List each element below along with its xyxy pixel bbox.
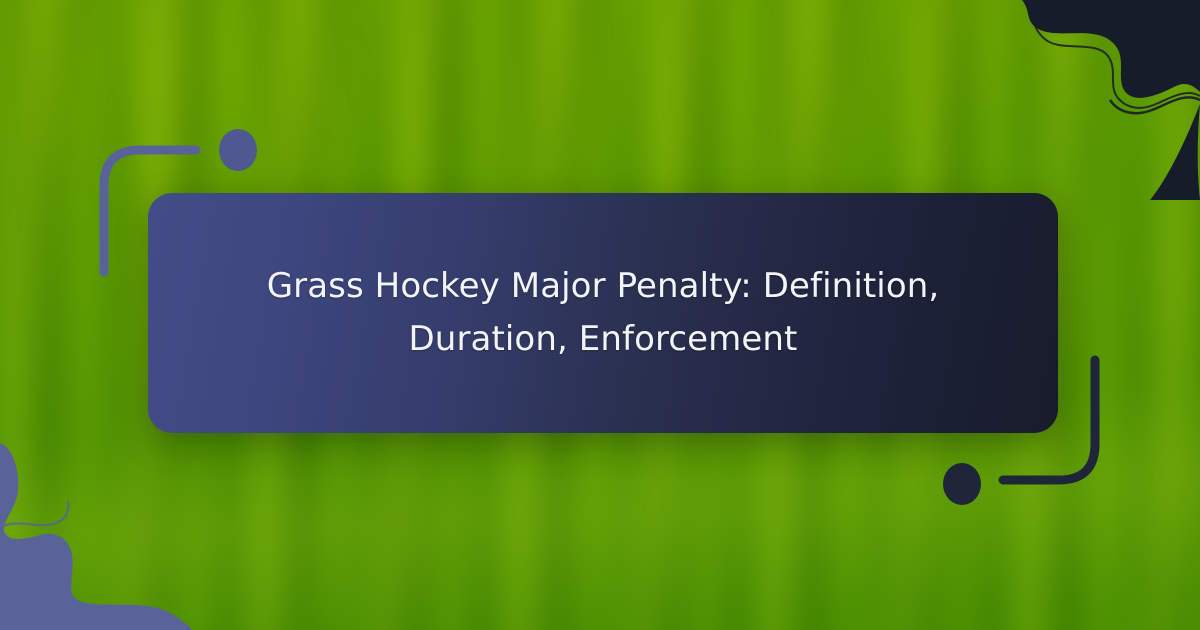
dot-light-icon	[219, 129, 257, 171]
corner-blob-dark	[1000, 0, 1200, 200]
corner-blob-blue	[0, 435, 200, 630]
page-title: Grass Hockey Major Penalty: Definition, …	[253, 260, 953, 366]
dot-dark-icon	[943, 463, 981, 505]
share-card-canvas: Grass Hockey Major Penalty: Definition, …	[0, 0, 1200, 630]
title-card: Grass Hockey Major Penalty: Definition, …	[148, 193, 1058, 433]
